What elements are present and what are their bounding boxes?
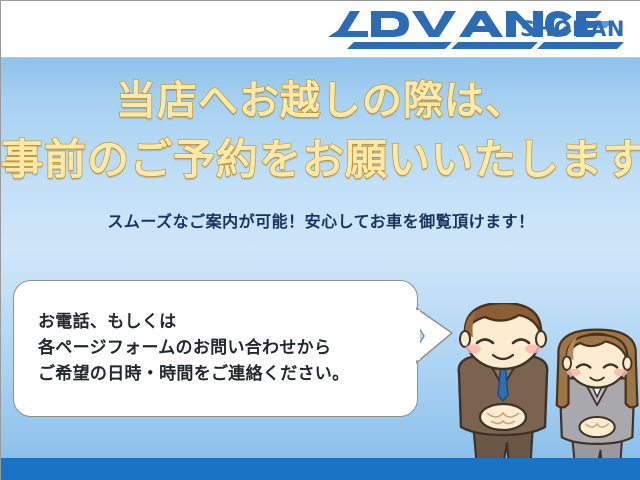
banner-body: 当店へお越しの際は、 事前のご予約をお願いいたします！ スムーズなご案内が可能！… <box>1 58 640 458</box>
headline-line-2: 事前のご予約をお願いいたします！ <box>1 126 640 187</box>
bowing-staff-illustration <box>441 303 640 480</box>
sub-headline: スムーズなご案内が可能！安心してお車を御覧頂けます！ <box>1 208 640 232</box>
headline-line-1: 当店へお越しの際は、 <box>1 68 640 126</box>
male-staff-bowing <box>459 303 548 480</box>
bottom-accent-bar <box>1 458 640 480</box>
svg-text:SHONAN: SHONAN <box>520 17 625 41</box>
speech-bubble-text: お電話、もしくは 各ページフォームのお問い合わせから ご希望の日時・時間をご連絡… <box>38 309 403 387</box>
speech-bubble: お電話、もしくは 各ページフォームのお問い合わせから ご希望の日時・時間をご連絡… <box>13 280 418 417</box>
advance-shonan-logo: SHONAN <box>324 7 629 51</box>
banner-header: SHONAN <box>1 1 640 58</box>
advertisement-banner: SHONAN 当店へお越しの際は、 事前のご予約をお願いいたします！ スムーズな… <box>0 0 640 480</box>
